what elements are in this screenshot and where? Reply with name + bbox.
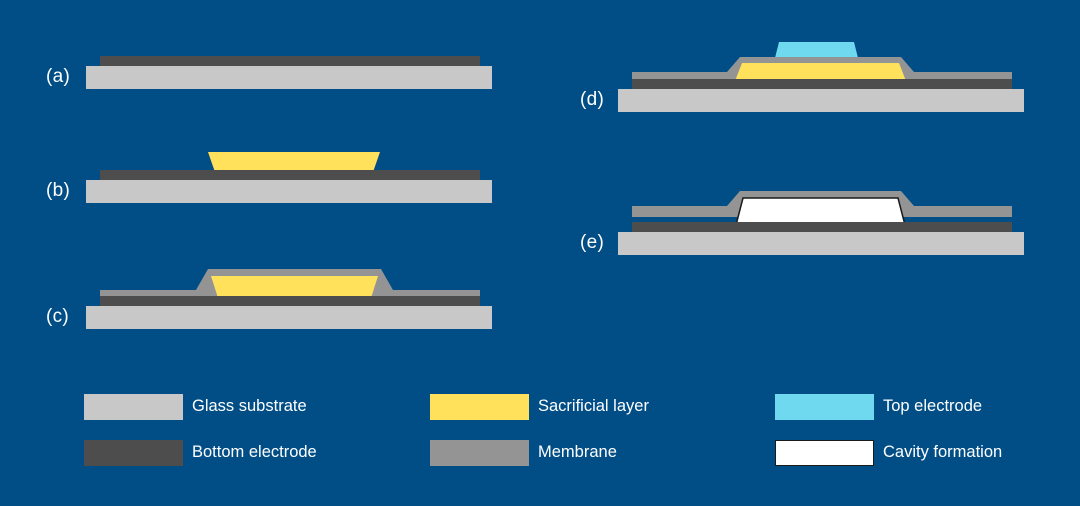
- legend-swatch-sacrificial-layer: [430, 394, 529, 420]
- panel-c-stack: [86, 269, 492, 329]
- panel-e-stack: [618, 191, 1024, 255]
- process-flow-figure: (a) (b) (c) (d) (e) Glass substrate Bott…: [0, 0, 1080, 506]
- legend-swatch-top-electrode: [775, 394, 874, 420]
- glass-substrate-layer: [618, 232, 1024, 255]
- panel-stacks: [0, 0, 1080, 506]
- panel-label-e: (e): [580, 232, 604, 254]
- sacrificial-layer-shape: [735, 63, 906, 81]
- panel-label-a: (a): [46, 66, 70, 88]
- legend-label-cavity-formation: Cavity formation: [883, 443, 1002, 462]
- panel-b-stack: [86, 152, 492, 203]
- legend-swatch-cavity-formation: [775, 440, 874, 466]
- legend-label-sacrificial-layer: Sacrificial layer: [538, 397, 649, 416]
- glass-substrate-layer: [618, 89, 1024, 112]
- legend-label-top-electrode: Top electrode: [883, 397, 982, 416]
- legend-label-membrane: Membrane: [538, 443, 617, 462]
- sacrificial-layer-shape: [211, 276, 378, 298]
- panel-label-d: (d): [580, 89, 604, 111]
- glass-substrate-layer: [86, 306, 492, 329]
- legend-swatch-glass-substrate: [84, 394, 183, 420]
- legend-label-glass-substrate: Glass substrate: [192, 397, 307, 416]
- panel-label-b: (b): [46, 180, 70, 202]
- panel-d-stack: [618, 42, 1024, 112]
- panel-a-stack: [86, 56, 492, 89]
- legend-label-bottom-electrode: Bottom electrode: [192, 443, 317, 462]
- legend-swatch-bottom-electrode: [84, 440, 183, 466]
- top-electrode-shape: [775, 42, 858, 58]
- legend-swatch-membrane: [430, 440, 529, 466]
- glass-substrate-layer: [86, 66, 492, 89]
- cavity-formation-shape: [736, 198, 905, 225]
- panel-label-c: (c): [46, 306, 69, 328]
- glass-substrate-layer: [86, 180, 492, 203]
